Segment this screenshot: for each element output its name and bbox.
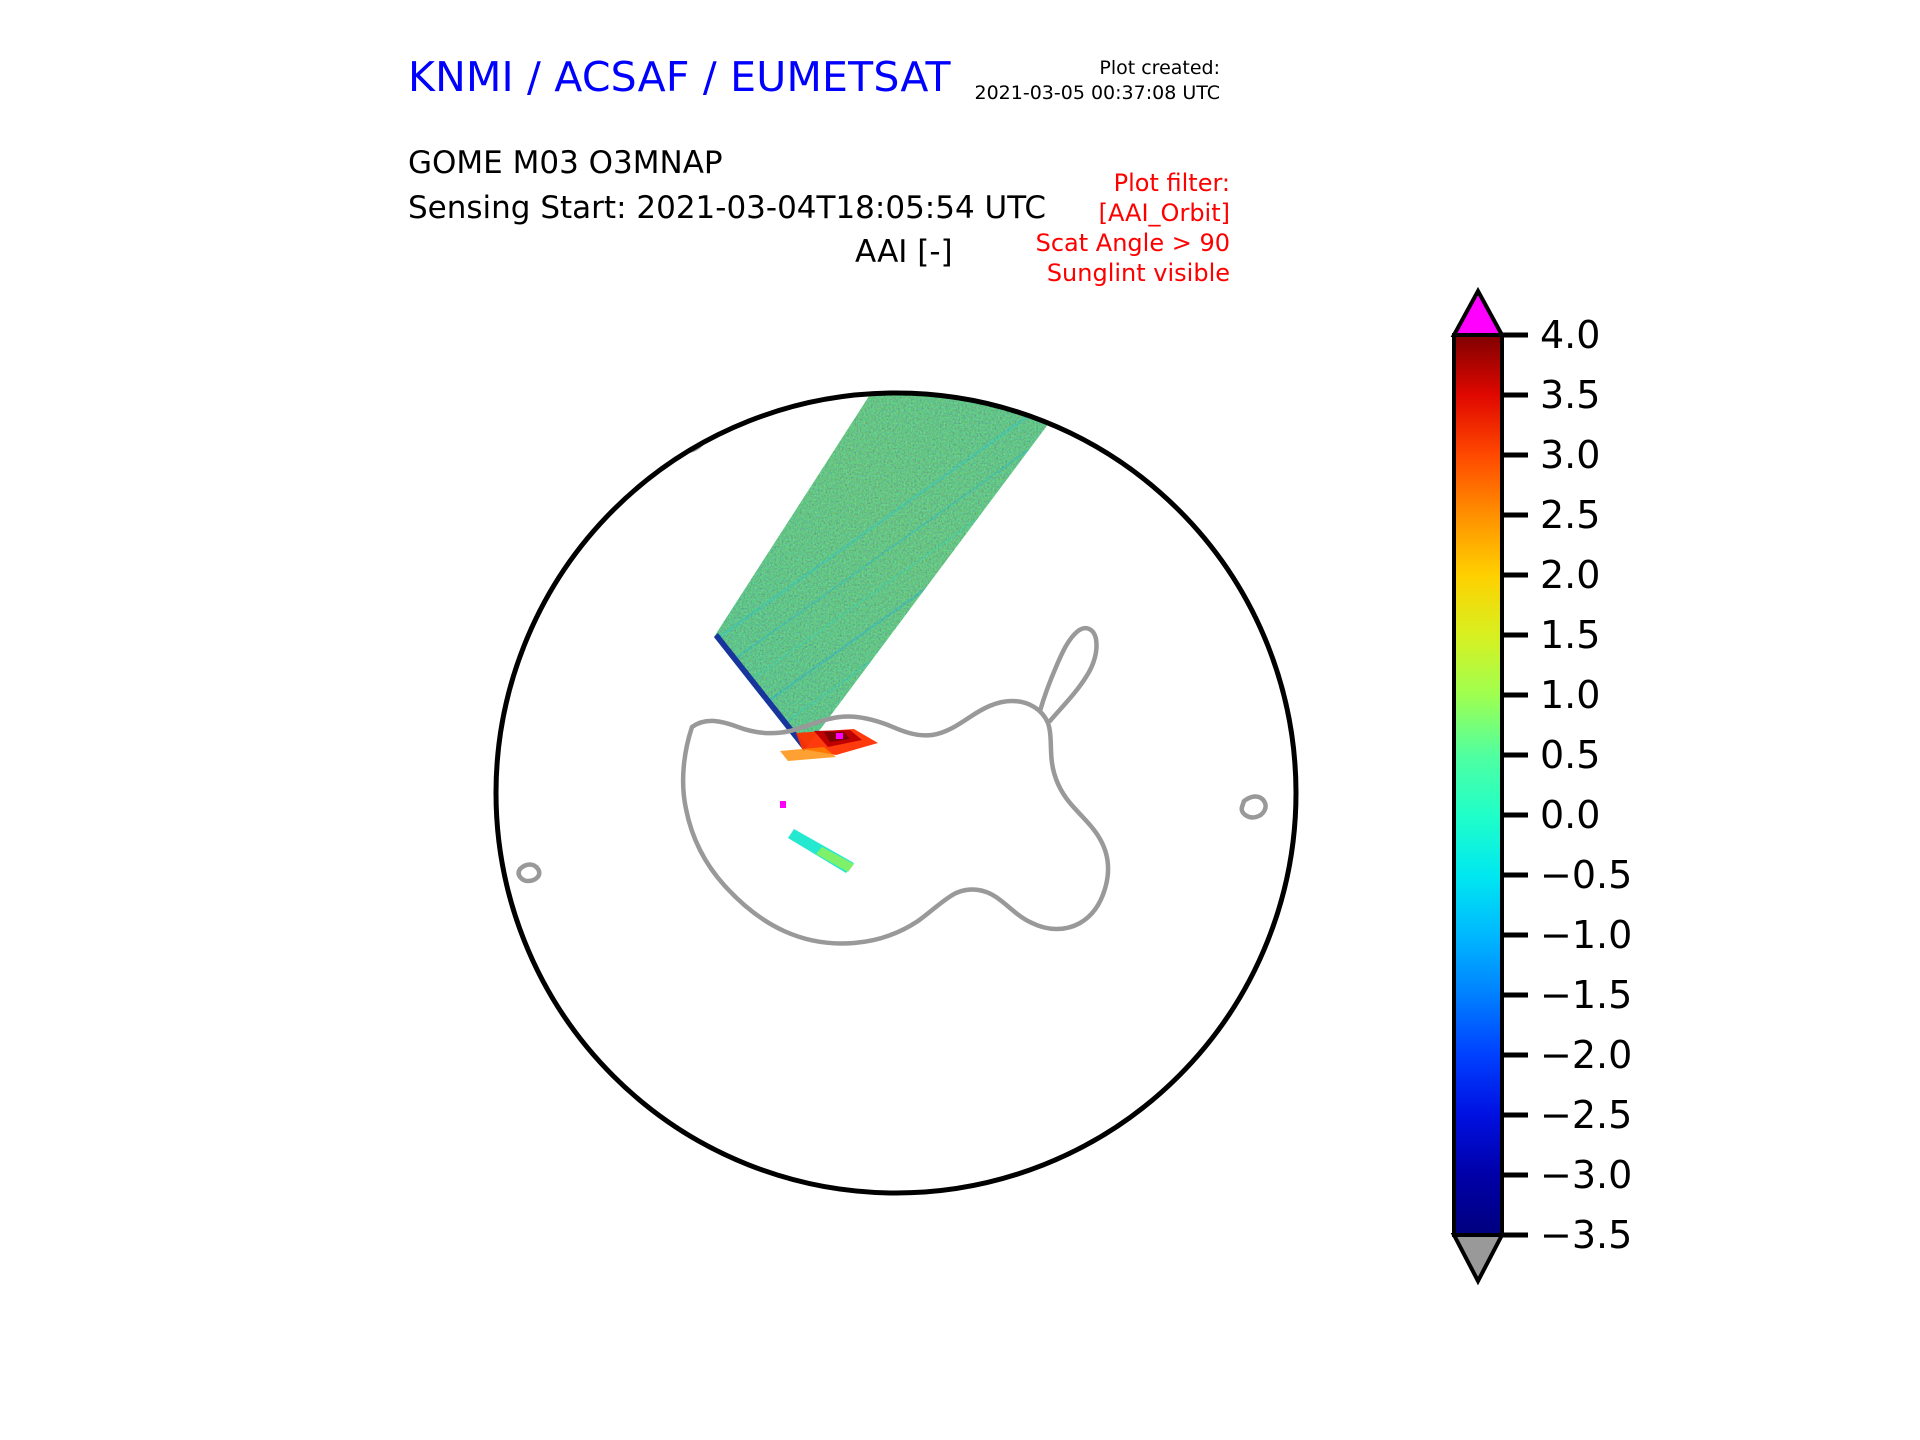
coastline-new-zealand-north	[714, 336, 760, 394]
sensing-start-line: Sensing Start: 2021-03-04T18:05:54 UTC	[408, 186, 1046, 231]
colorbar-panel: 4.03.53.02.52.01.51.00.50.0−0.5−1.0−1.5−…	[1436, 281, 1766, 1321]
product-info-block: GOME M03 O3MNAP Sensing Start: 2021-03-0…	[408, 141, 1046, 231]
colorbar-tick-label: 0.5	[1540, 733, 1600, 777]
instrument-product-line: GOME M03 O3MNAP	[408, 141, 1046, 186]
plot-filter-line-1: [AAI_Orbit]	[1036, 198, 1230, 228]
colorbar-under-range-arrow	[1454, 1235, 1502, 1281]
colorbar-tick-label: −2.5	[1540, 1093, 1632, 1137]
plot-created-timestamp: 2021-03-05 00:37:08 UTC	[975, 81, 1221, 106]
colorbar-tick-label: 1.5	[1540, 613, 1600, 657]
colorbar-tick-label: 0.0	[1540, 793, 1600, 837]
colorbar-over-range-arrow	[1454, 291, 1502, 335]
colorbar-tick-label: 3.0	[1540, 433, 1600, 477]
plot-filter-block: Plot filter: [AAI_Orbit] Scat Angle > 90…	[1036, 168, 1230, 288]
plot-filter-line-0: Plot filter:	[1036, 168, 1230, 198]
colorbar-tick-label: −1.0	[1540, 913, 1632, 957]
colorbar-tick-label: 1.0	[1540, 673, 1600, 717]
isolated-over-range-pixel	[780, 801, 786, 808]
plot-filter-line-2: Scat Angle > 90	[1036, 228, 1230, 258]
plot-created-label: Plot created:	[975, 56, 1221, 81]
colorbar-tick-label: 3.5	[1540, 373, 1600, 417]
organisation-title: KNMI / ACSAF / EUMETSAT	[408, 53, 951, 101]
plot-created-block: Plot created: 2021-03-05 00:37:08 UTC	[975, 56, 1221, 106]
colorbar-tick-label: 2.0	[1540, 553, 1600, 597]
colorbar-tick-label: −1.5	[1540, 973, 1632, 1017]
coastline-falklands	[1302, 950, 1322, 969]
coastline-tasmania	[484, 479, 512, 507]
polar-map-panel	[384, 281, 1408, 1305]
colorbar-tick-label: −2.0	[1540, 1033, 1632, 1077]
colorbar-gradient-body	[1454, 335, 1502, 1235]
colorbar-tick-label: −3.0	[1540, 1153, 1632, 1197]
colorbar-tick-label: 2.5	[1540, 493, 1600, 537]
coastline-south-america	[1337, 928, 1408, 1030]
colorbar-tick-label: −0.5	[1540, 853, 1632, 897]
colorbar-tick-label: 4.0	[1540, 313, 1600, 357]
colorbar-tick-label: −3.5	[1540, 1213, 1632, 1257]
quantity-title: AAI [-]	[855, 234, 953, 270]
colorbar-ticks: 4.03.53.02.52.01.51.00.50.0−0.5−1.0−1.5−…	[1502, 313, 1632, 1257]
